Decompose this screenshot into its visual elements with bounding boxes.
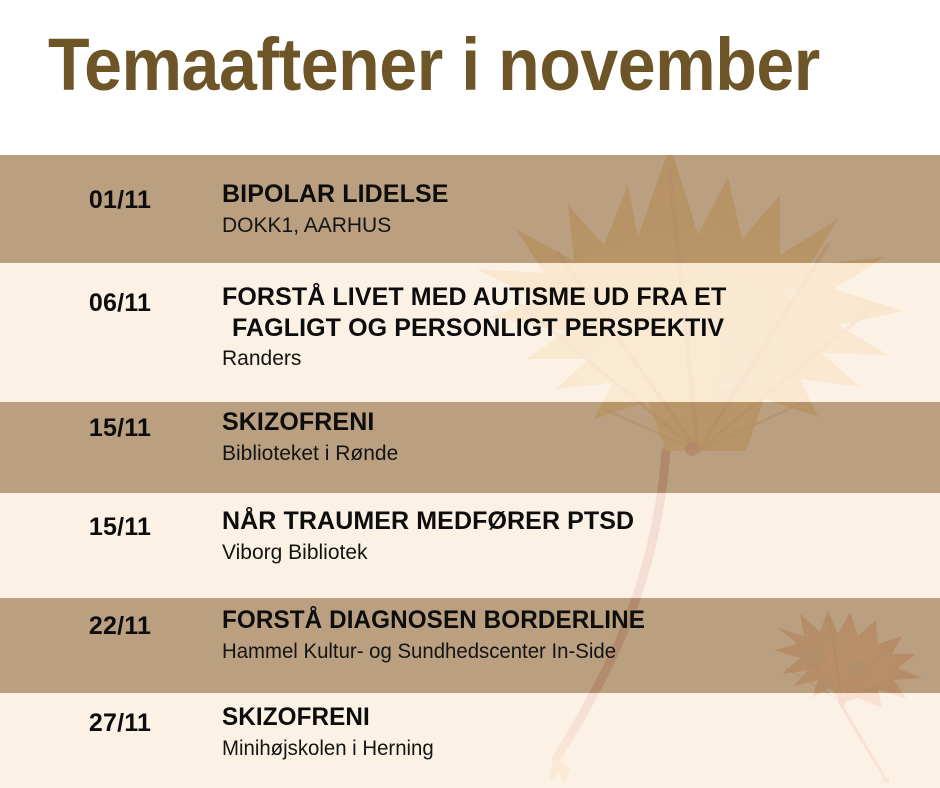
row-location: Minihøjskolen i Herning	[222, 735, 909, 762]
row-title: NÅR TRAUMER MEDFØRER PTSD	[222, 506, 930, 537]
schedule-row-3[interactable]: 15/11 SKIZOFRENI Biblioteket i Rønde	[0, 402, 940, 493]
row-date: 06/11	[40, 289, 200, 318]
row-text-block: FORSTÅ LIVET MED AUTISME UD FRA ET FAGLI…	[222, 282, 930, 372]
row-location: Hammel Kultur- og Sundhedscenter In-Side	[222, 638, 909, 665]
row-location: DOKK1, AARHUS	[222, 212, 930, 239]
schedule-row-6[interactable]: 27/11 SKIZOFRENI Minihøjskolen i Herning	[0, 693, 940, 788]
row-text-block: FORSTÅ DIAGNOSEN BORDERLINE Hammel Kultu…	[222, 605, 930, 665]
schedule-row-5[interactable]: 22/11 FORSTÅ DIAGNOSEN BORDERLINE Hammel…	[0, 598, 940, 693]
row-text-block: BIPOLAR LIDELSE DOKK1, AARHUS	[222, 179, 930, 239]
row-date: 27/11	[40, 709, 200, 738]
row-location: Viborg Bibliotek	[222, 539, 930, 566]
row-title: SKIZOFRENI	[222, 702, 909, 733]
row-location: Biblioteket i Rønde	[222, 440, 930, 467]
row-title: BIPOLAR LIDELSE	[222, 179, 930, 210]
row-title-line2: FAGLIGT OG PERSONLIGT PERSPEKTIV	[222, 313, 930, 344]
schedule-row-2[interactable]: 06/11 FORSTÅ LIVET MED AUTISME UD FRA ET…	[0, 263, 940, 402]
row-title: FORSTÅ LIVET MED AUTISME UD FRA ET	[222, 282, 930, 313]
row-date: 01/11	[40, 186, 200, 215]
poster-canvas: 01/11 BIPOLAR LIDELSE DOKK1, AARHUS 06/1…	[0, 0, 940, 788]
row-text-block: NÅR TRAUMER MEDFØRER PTSD Viborg Bibliot…	[222, 506, 930, 566]
row-date: 15/11	[40, 513, 200, 542]
row-location: Randers	[222, 345, 930, 372]
schedule-row-1[interactable]: 01/11 BIPOLAR LIDELSE DOKK1, AARHUS	[0, 155, 940, 263]
title-band: Temaaftener i november	[0, 0, 940, 155]
row-text-block: SKIZOFRENI Minihøjskolen i Herning	[222, 702, 930, 762]
row-date: 15/11	[40, 414, 200, 443]
page-title: Temaaftener i november	[48, 26, 820, 104]
row-title: FORSTÅ DIAGNOSEN BORDERLINE	[222, 605, 909, 636]
row-text-block: SKIZOFRENI Biblioteket i Rønde	[222, 407, 930, 467]
schedule-row-4[interactable]: 15/11 NÅR TRAUMER MEDFØRER PTSD Viborg B…	[0, 493, 940, 598]
row-date: 22/11	[40, 612, 200, 641]
row-title: SKIZOFRENI	[222, 407, 930, 438]
